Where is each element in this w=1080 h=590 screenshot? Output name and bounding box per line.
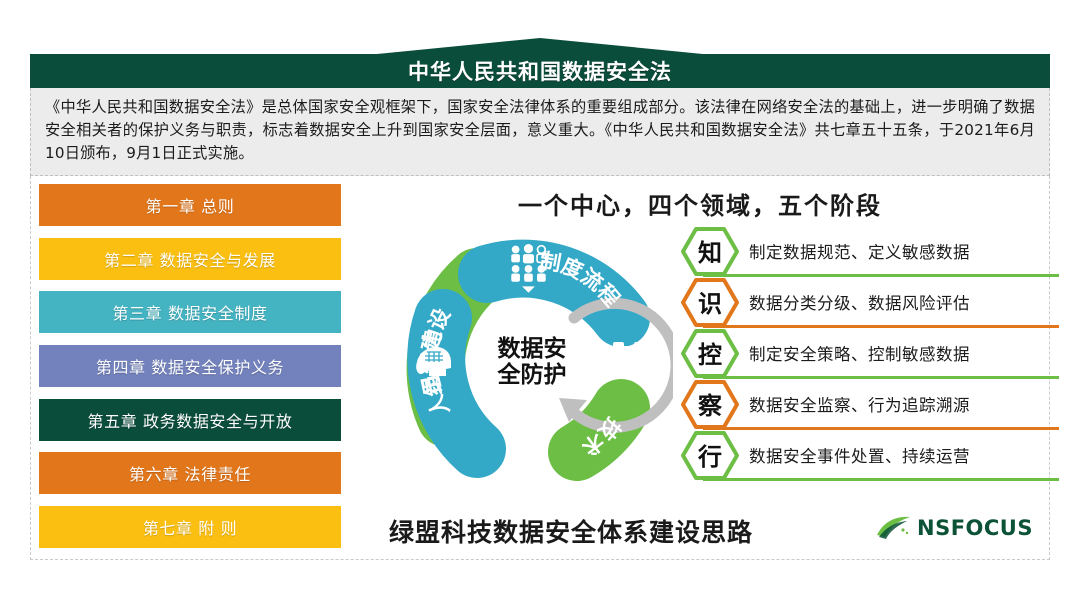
stage-row-1[interactable]: 知制定数据规范、定义敏感数据 (681, 226, 1049, 277)
nsfocus-logo: NSFOCUS (876, 515, 1033, 541)
chapter-item-3[interactable]: 第三章 数据安全制度 (39, 291, 341, 333)
stage-description: 数据安全监察、行为追踪溯源 (749, 379, 1049, 428)
chapter-item-label: 第七章 附 则 (143, 515, 237, 539)
stage-list: 知制定数据规范、定义敏感数据识数据分类分级、数据风险评估控制定安全策略、控制敏感… (681, 226, 1049, 481)
title-banner: 中华人民共和国数据安全法 (30, 38, 1050, 88)
description-box: 《中华人民共和国数据安全法》是总体国家安全观框架下，国家安全法律体系的重要组成部… (30, 88, 1050, 176)
nsfocus-logo-text: NSFOCUS (917, 516, 1033, 540)
chapter-item-label: 第四章 数据安全保护义务 (96, 354, 284, 378)
tools-wrench-icon (514, 453, 547, 485)
stage-char: 察 (681, 379, 739, 428)
chapter-item-label: 第一章 总则 (146, 193, 235, 217)
stage-char: 行 (681, 430, 739, 479)
stage-char: 控 (681, 328, 739, 377)
content-area: 第一章 总则第二章 数据安全与发展第三章 数据安全制度第四章 数据安全保护义务第… (30, 176, 1050, 560)
chapter-item-label: 第三章 数据安全制度 (112, 300, 267, 324)
chapter-item-7[interactable]: 第七章 附 则 (39, 506, 341, 548)
stage-description: 数据安全事件处置、持续运营 (749, 430, 1049, 479)
process-network-icon (613, 342, 647, 370)
stage-char: 识 (681, 277, 739, 326)
chapter-item-label: 第二章 数据安全与发展 (104, 247, 276, 271)
chapter-item-label: 第六章 法律责任 (129, 461, 251, 485)
page-title: 中华人民共和国数据安全法 (30, 56, 1050, 86)
stage-row-2[interactable]: 识数据分类分级、数据风险评估 (681, 277, 1049, 328)
stage-description: 数据分类分级、数据风险评估 (749, 277, 1049, 326)
nsfocus-mark-icon (876, 515, 912, 541)
chapter-item-6[interactable]: 第六章 法律责任 (39, 452, 341, 494)
chapter-item-5[interactable]: 第五章 政务数据安全与开放 (39, 399, 341, 441)
chapter-item-2[interactable]: 第二章 数据安全与发展 (39, 238, 341, 280)
right-panel: 一个中心，四个领域，五个阶段 (351, 176, 1049, 559)
chapter-item-1[interactable]: 第一章 总则 (39, 184, 341, 226)
section-headline: 一个中心，四个领域，五个阶段 (351, 186, 1049, 221)
description-text: 《中华人民共和国数据安全法》是总体国家安全观框架下，国家安全法律体系的重要组成部… (45, 96, 1035, 165)
stage-row-5[interactable]: 行数据安全事件处置、持续运营 (681, 430, 1049, 481)
chapter-item-4[interactable]: 第四章 数据安全保护义务 (39, 345, 341, 387)
stage-row-4[interactable]: 察数据安全监察、行为追踪溯源 (681, 379, 1049, 430)
infographic-slide: 中华人民共和国数据安全法 《中华人民共和国数据安全法》是总体国家安全观框架下，国… (0, 0, 1080, 590)
chapter-item-label: 第五章 政务数据安全与开放 (88, 408, 293, 432)
chapter-list: 第一章 总则第二章 数据安全与发展第三章 数据安全制度第四章 数据安全保护义务第… (39, 184, 341, 548)
stage-char: 知 (681, 226, 739, 275)
footer: 绿盟科技数据安全体系建设思路 NSFOCUS (371, 507, 1039, 551)
donut-svg: 组织建设 制度流程 技术工具 人员能力 (391, 222, 673, 504)
stage-row-3[interactable]: 控制定安全策略、控制敏感数据 (681, 328, 1049, 379)
stage-description: 制定数据规范、定义敏感数据 (749, 226, 1049, 275)
security-domains-donut: 组织建设 制度流程 技术工具 人员能力 (391, 222, 673, 504)
footer-title: 绿盟科技数据安全体系建设思路 (389, 513, 753, 549)
stage-description: 制定安全策略、控制敏感数据 (749, 328, 1049, 377)
